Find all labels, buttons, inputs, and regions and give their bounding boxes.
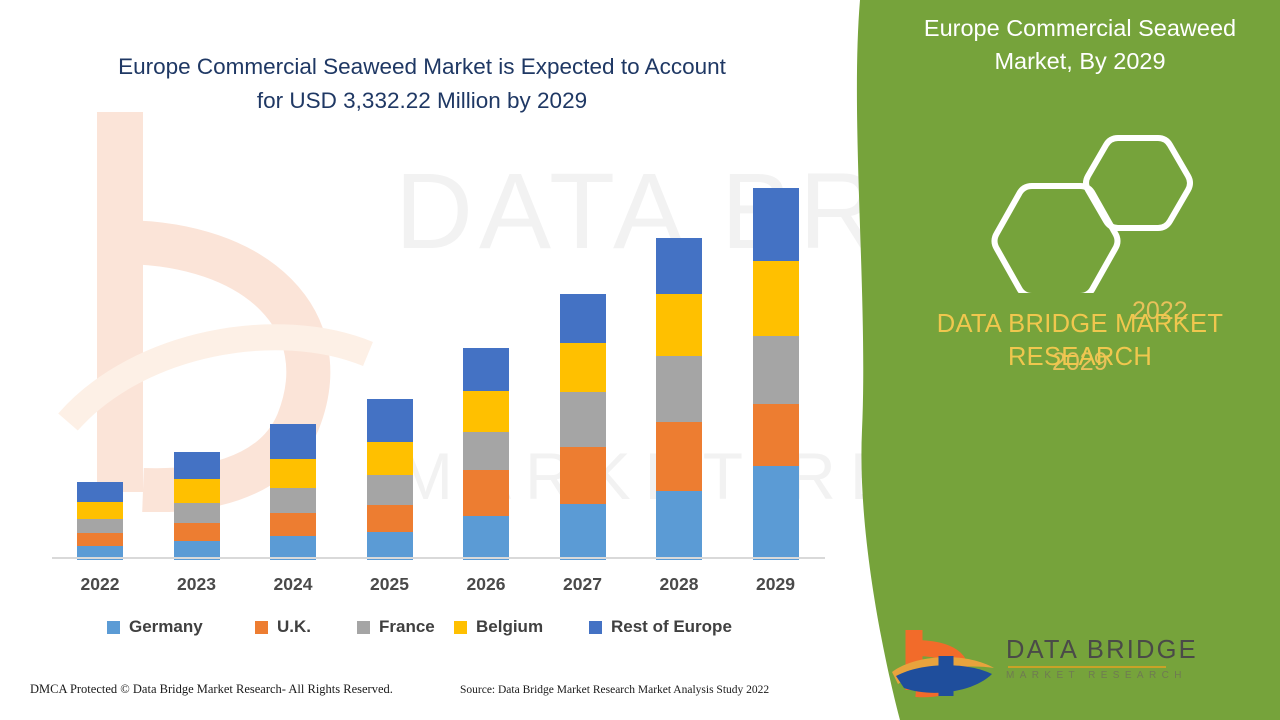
infographic-canvas: DATA BRIDGE MARKET RESEARCH Europe Comme… [0, 0, 1280, 720]
bar-segment-france [174, 503, 220, 523]
bar-2027 [560, 294, 606, 560]
x-tick-2026: 2026 [451, 574, 521, 595]
legend-item-belgium[interactable]: Belgium [454, 617, 543, 637]
bar-segment-belgium [174, 479, 220, 503]
x-tick-2028: 2028 [644, 574, 714, 595]
bar-segment-rest-of-europe [367, 399, 413, 442]
bar-segment-germany [753, 466, 799, 560]
data-bridge-logo: DATA BRIDGE MARKET RESEARCH [888, 628, 1238, 700]
x-tick-2027: 2027 [548, 574, 618, 595]
bar-segment-belgium [560, 343, 606, 392]
legend-swatch-icon [255, 621, 268, 634]
legend-label: Germany [129, 617, 203, 637]
footer-source: Source: Data Bridge Market Research Mark… [460, 684, 769, 696]
chart-title-line1: Europe Commercial Seaweed Market is Expe… [52, 50, 792, 84]
bar-segment-germany [463, 516, 509, 560]
bar-segment-france [656, 356, 702, 422]
chart-legend: GermanyU.K.FranceBelgiumRest of Europe [52, 617, 827, 643]
panel-title-line2: Market, By 2029 [895, 45, 1265, 78]
hexagon-badges: 2022 2029 [980, 128, 1210, 293]
legend-item-germany[interactable]: Germany [107, 617, 203, 637]
bar-segment-rest-of-europe [77, 482, 123, 502]
bar-2024 [270, 424, 316, 560]
panel-title: Europe Commercial Seaweed Market, By 202… [895, 12, 1265, 78]
bar-segment-france [367, 475, 413, 505]
footer-copyright: DMCA Protected © Data Bridge Market Rese… [30, 682, 393, 697]
bar-segment-u-k- [174, 523, 220, 541]
x-tick-2029: 2029 [741, 574, 811, 595]
x-tick-2025: 2025 [355, 574, 425, 595]
logo-sub-text: MARKET RESEARCH [1006, 670, 1198, 681]
legend-item-france[interactable]: France [357, 617, 435, 637]
bar-2028 [656, 238, 702, 560]
bar-segment-belgium [367, 442, 413, 475]
bar-segment-germany [560, 504, 606, 560]
bar-segment-u-k- [463, 470, 509, 516]
logo-divider [1008, 666, 1166, 668]
chart-title: Europe Commercial Seaweed Market is Expe… [52, 50, 792, 118]
bar-segment-france [77, 519, 123, 533]
brand-panel-content: Europe Commercial Seaweed Market, By 202… [840, 0, 1280, 720]
bar-segment-belgium [270, 459, 316, 488]
legend-item-rest-of-europe[interactable]: Rest of Europe [589, 617, 732, 637]
bar-segment-belgium [656, 294, 702, 356]
logo-mark-icon [888, 628, 1000, 698]
legend-swatch-icon [454, 621, 467, 634]
panel-brand-line1: DATA BRIDGE MARKET [895, 308, 1265, 341]
panel-title-line1: Europe Commercial Seaweed [895, 12, 1265, 45]
legend-swatch-icon [589, 621, 602, 634]
legend-swatch-icon [107, 621, 120, 634]
bar-segment-france [463, 432, 509, 470]
bar-segment-belgium [463, 391, 509, 432]
legend-label: Rest of Europe [611, 617, 732, 637]
bar-2025 [367, 399, 413, 560]
logo-wordmark: DATA BRIDGE MARKET RESEARCH [1006, 636, 1198, 681]
bar-2022 [77, 482, 123, 560]
hexagon-outlines-icon [980, 128, 1210, 293]
bar-2023 [174, 452, 220, 560]
bar-segment-rest-of-europe [270, 424, 316, 459]
bar-segment-rest-of-europe [174, 452, 220, 479]
x-axis-tick-labels: 20222023202420252026202720282029 [52, 574, 827, 600]
stacked-bar-chart-plot [52, 150, 827, 560]
bar-segment-france [270, 488, 316, 513]
bar-segment-rest-of-europe [656, 238, 702, 294]
bar-segment-belgium [753, 261, 799, 336]
bar-segment-france [560, 392, 606, 447]
bar-segment-u-k- [270, 513, 316, 536]
bar-segment-germany [656, 491, 702, 560]
panel-brand-name: DATA BRIDGE MARKET RESEARCH [895, 308, 1265, 374]
x-axis-line [52, 557, 825, 559]
x-tick-2022: 2022 [65, 574, 135, 595]
bar-segment-rest-of-europe [753, 188, 799, 261]
legend-label: U.K. [277, 617, 311, 637]
legend-label: Belgium [476, 617, 543, 637]
legend-swatch-icon [357, 621, 370, 634]
bar-segment-u-k- [560, 447, 606, 504]
bar-segment-u-k- [753, 404, 799, 466]
bar-segment-u-k- [77, 533, 123, 546]
bar-segment-u-k- [367, 505, 413, 532]
bar-segment-germany [367, 532, 413, 560]
bar-segment-rest-of-europe [463, 348, 509, 391]
x-tick-2024: 2024 [258, 574, 328, 595]
legend-label: France [379, 617, 435, 637]
x-tick-2023: 2023 [162, 574, 232, 595]
bar-2029 [753, 188, 799, 560]
bar-2026 [463, 348, 509, 560]
legend-item-u-k-[interactable]: U.K. [255, 617, 311, 637]
bar-segment-france [753, 336, 799, 404]
bar-segment-belgium [77, 502, 123, 519]
logo-main-text: DATA BRIDGE [1006, 636, 1198, 665]
bar-segment-rest-of-europe [560, 294, 606, 343]
bar-segment-u-k- [656, 422, 702, 491]
chart-title-line2: for USD 3,332.22 Million by 2029 [52, 84, 792, 118]
panel-brand-line2: RESEARCH [895, 341, 1265, 374]
